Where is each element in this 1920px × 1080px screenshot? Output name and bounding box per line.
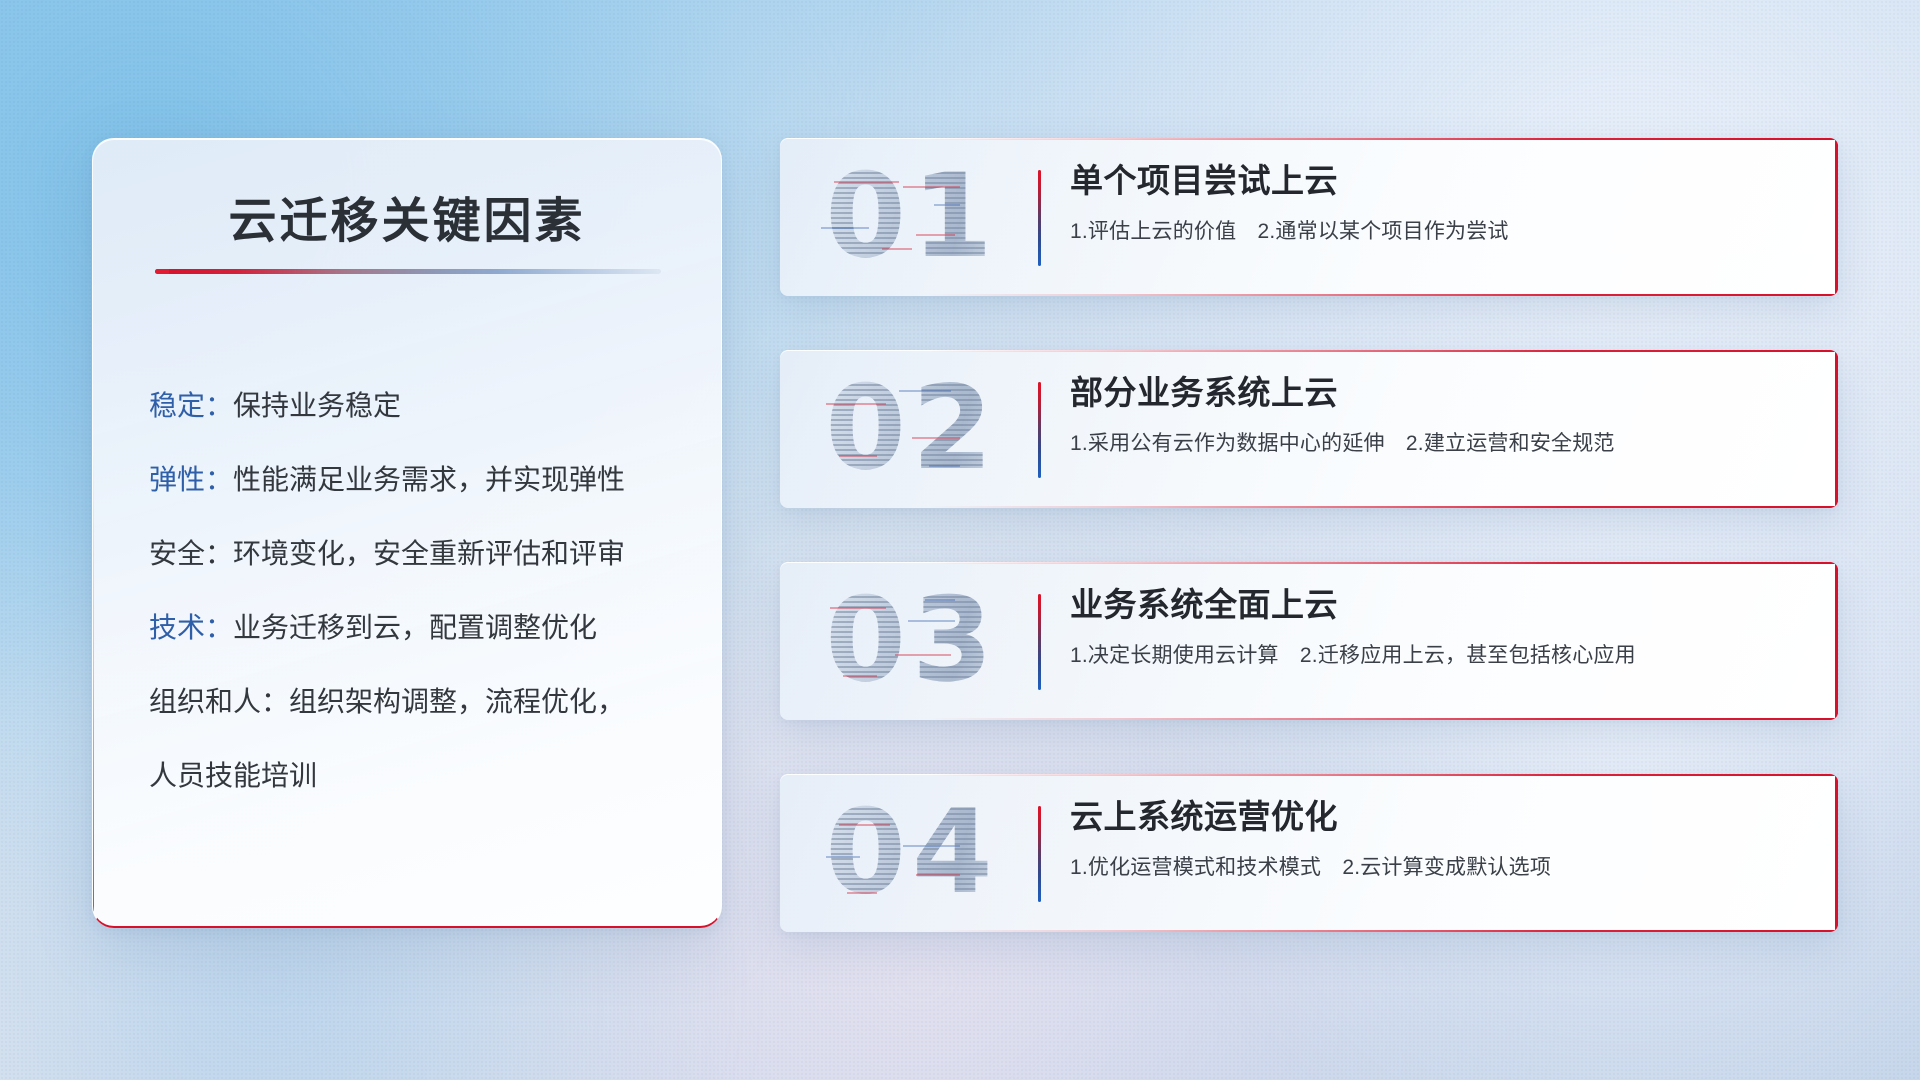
page-title: 云迁移关键因素 <box>93 181 721 251</box>
stage-card-right-edge <box>1835 138 1838 296</box>
factor-description: 性能满足业务需求，并实现弹性 <box>233 464 625 495</box>
key-factors-list: 稳定：保持业务稳定 弹性：性能满足业务需求，并实现弹性 安全：环境变化，安全重新… <box>149 369 685 813</box>
list-item: 安全：环境变化，安全重新评估和评审 <box>149 517 685 591</box>
stage-title: 业务系统全面上云 <box>1070 584 1798 625</box>
factor-description: 业务迁移到云，配置调整优化 <box>233 612 597 643</box>
stage-description: 1.采用公有云作为数据中心的延伸 2.建立运营和安全规范 <box>1070 427 1798 457</box>
stage-accent-bar <box>1038 806 1041 902</box>
factor-label: 组织和人： <box>149 686 289 717</box>
factor-description: 保持业务稳定 <box>233 390 401 421</box>
key-factors-panel: 云迁移关键因素 稳定：保持业务稳定 弹性：性能满足业务需求，并实现弹性 安全：环… <box>92 138 722 928</box>
stage-title: 云上系统运营优化 <box>1070 796 1798 837</box>
title-underline-rule <box>155 269 661 274</box>
stage-number: 01 <box>804 152 1020 282</box>
stage-number: 03 <box>804 576 1020 706</box>
stage-text-block: 业务系统全面上云 1.决定长期使用云计算 2.迁移应用上云，甚至包括核心应用 <box>1070 584 1798 669</box>
factor-label: 技术： <box>149 612 233 643</box>
factor-label: 弹性： <box>149 464 233 495</box>
stage-card[interactable]: 04 云上系统运营优化 1.优化运营模式和技术模式 2.云计算变成默认选项 <box>780 774 1838 932</box>
stage-description: 1.优化运营模式和技术模式 2.云计算变成默认选项 <box>1070 851 1798 881</box>
stage-number: 02 <box>804 364 1020 494</box>
stage-title: 部分业务系统上云 <box>1070 372 1798 413</box>
list-item: 人员技能培训 <box>149 739 685 813</box>
stage-text-block: 单个项目尝试上云 1.评估上云的价值 2.通常以某个项目作为尝试 <box>1070 160 1798 245</box>
stage-description: 1.评估上云的价值 2.通常以某个项目作为尝试 <box>1070 215 1798 245</box>
stage-description: 1.决定长期使用云计算 2.迁移应用上云，甚至包括核心应用 <box>1070 639 1798 669</box>
stage-card[interactable]: 01 单个项目尝试上云 1.评估上云的价值 2.通常以某个项目作为尝试 <box>780 138 1838 296</box>
list-item: 技术：业务迁移到云，配置调整优化 <box>149 591 685 665</box>
stage-accent-bar <box>1038 594 1041 690</box>
stage-card-right-edge <box>1835 350 1838 508</box>
stage-text-block: 部分业务系统上云 1.采用公有云作为数据中心的延伸 2.建立运营和安全规范 <box>1070 372 1798 457</box>
factor-label: 稳定： <box>149 390 233 421</box>
stage-card-right-edge <box>1835 774 1838 932</box>
stage-number: 04 <box>804 788 1020 918</box>
factor-description: 环境变化，安全重新评估和评审 <box>233 538 625 569</box>
factor-description: 人员技能培训 <box>149 760 317 791</box>
stage-title: 单个项目尝试上云 <box>1070 160 1798 201</box>
stage-card[interactable]: 02 部分业务系统上云 1.采用公有云作为数据中心的延伸 2.建立运营和安全规范 <box>780 350 1838 508</box>
list-item: 稳定：保持业务稳定 <box>149 369 685 443</box>
stage-accent-bar <box>1038 170 1041 266</box>
stage-card-right-edge <box>1835 562 1838 720</box>
list-item: 弹性：性能满足业务需求，并实现弹性 <box>149 443 685 517</box>
factor-description: 组织架构调整，流程优化， <box>289 686 625 717</box>
migration-stage-cards: 01 单个项目尝试上云 1.评估上云的价值 2.通常以某个项目作为尝试 02 <box>780 138 1838 932</box>
stage-text-block: 云上系统运营优化 1.优化运营模式和技术模式 2.云计算变成默认选项 <box>1070 796 1798 881</box>
stage-accent-bar <box>1038 382 1041 478</box>
list-item: 组织和人：组织架构调整，流程优化， <box>149 665 685 739</box>
stage-card[interactable]: 03 业务系统全面上云 1.决定长期使用云计算 2.迁移应用上云，甚至包括核心应… <box>780 562 1838 720</box>
factor-label: 安全： <box>149 538 233 569</box>
